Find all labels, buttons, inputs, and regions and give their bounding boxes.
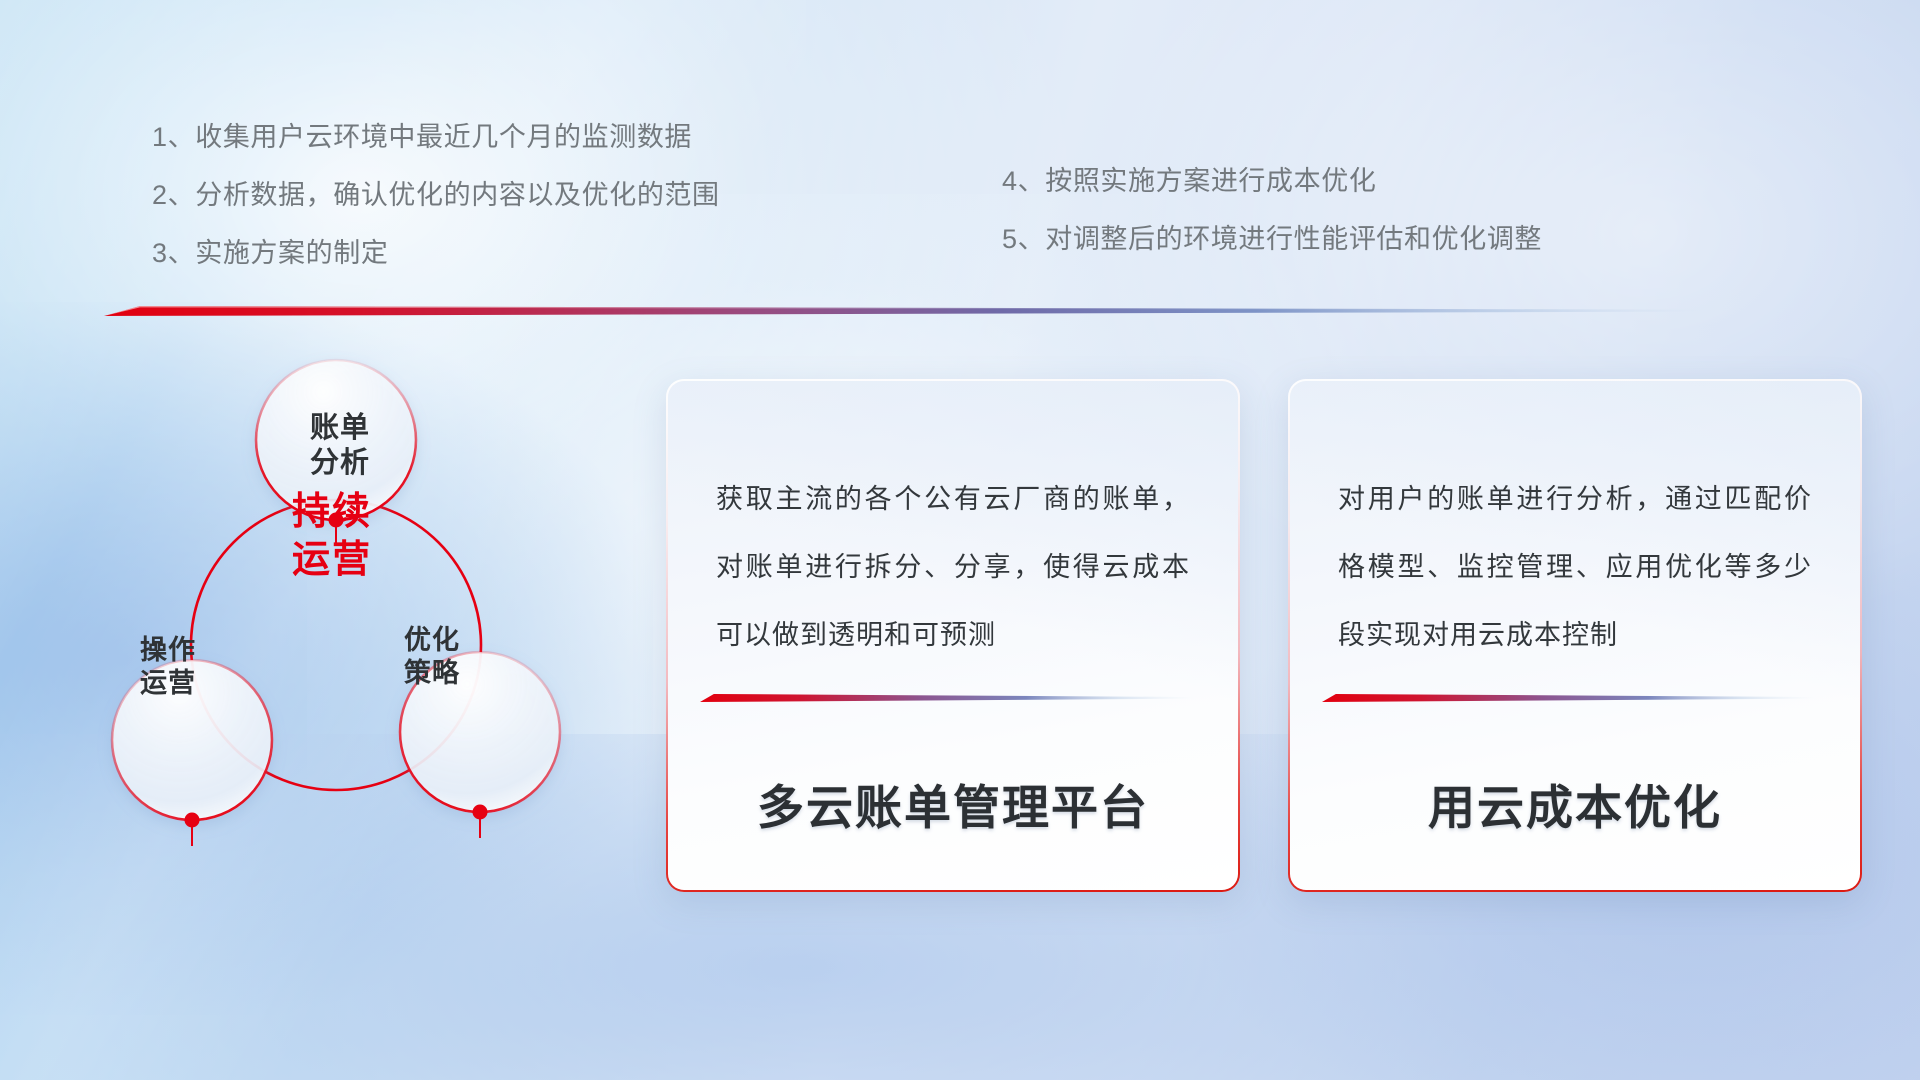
card-body-text: 获取主流的各个公有云厂商的账单，对账单进行拆分、分享，使得云成本可以做到透明和可…: [668, 381, 1238, 669]
card-accent-line: [1322, 691, 1816, 705]
venn-label-top-line1: 账单: [260, 411, 420, 446]
step-item: 3、实施方案的制定: [152, 224, 720, 282]
venn-label-bl-line1: 操作: [88, 634, 248, 667]
card-title: 多云账单管理平台: [668, 769, 1238, 890]
venn-label-br-line1: 优化: [352, 624, 512, 657]
step-item: 2、分析数据，确认优化的内容以及优化的范围: [152, 166, 720, 224]
card-body-text: 对用户的账单进行分析，通过匹配价格模型、监控管理、应用优化等多少段实现对用云成本…: [1290, 381, 1860, 669]
venn-label-top: 账单 分析: [260, 411, 420, 482]
feature-card-multicloud-billing[interactable]: 获取主流的各个公有云厂商的账单，对账单进行拆分、分享，使得云成本可以做到透明和可…: [666, 379, 1240, 892]
card-title: 用云成本优化: [1290, 769, 1860, 890]
venn-label-center-line2: 运营: [232, 537, 432, 585]
venn-label-br-line2: 策略: [352, 657, 512, 690]
step-item: 1、收集用户云环境中最近几个月的监测数据: [152, 108, 720, 166]
card-inner: 对用户的账单进行分析，通过匹配价格模型、监控管理、应用优化等多少段实现对用云成本…: [1290, 381, 1860, 890]
venn-label-bottom-right: 优化 策略: [352, 624, 512, 690]
venn-label-top-line2: 分析: [260, 446, 420, 481]
venn-label-bottom-left: 操作 运营: [88, 634, 248, 700]
card-accent-line: [700, 691, 1194, 705]
venn-connector-bottom-left: [185, 813, 200, 847]
venn-label-center-line1: 持续: [232, 489, 432, 537]
venn-connector-bottom-right: [473, 805, 488, 839]
card-inner: 获取主流的各个公有云厂商的账单，对账单进行拆分、分享，使得云成本可以做到透明和可…: [668, 381, 1238, 890]
section-divider: [104, 300, 1704, 322]
feature-card-cloud-cost-optimization[interactable]: 对用户的账单进行分析，通过匹配价格模型、监控管理、应用优化等多少段实现对用云成本…: [1288, 379, 1862, 892]
venn-label-center: 持续 运营: [232, 489, 432, 584]
steps-list-right: 4、按照实施方案进行成本优化 5、对调整后的环境进行性能评估和优化调整: [1002, 152, 1542, 268]
steps-list-left: 1、收集用户云环境中最近几个月的监测数据 2、分析数据，确认优化的内容以及优化的…: [152, 108, 720, 282]
step-item: 4、按照实施方案进行成本优化: [1002, 152, 1542, 210]
step-item: 5、对调整后的环境进行性能评估和优化调整: [1002, 210, 1542, 268]
venn-label-bl-line2: 运营: [88, 667, 248, 700]
